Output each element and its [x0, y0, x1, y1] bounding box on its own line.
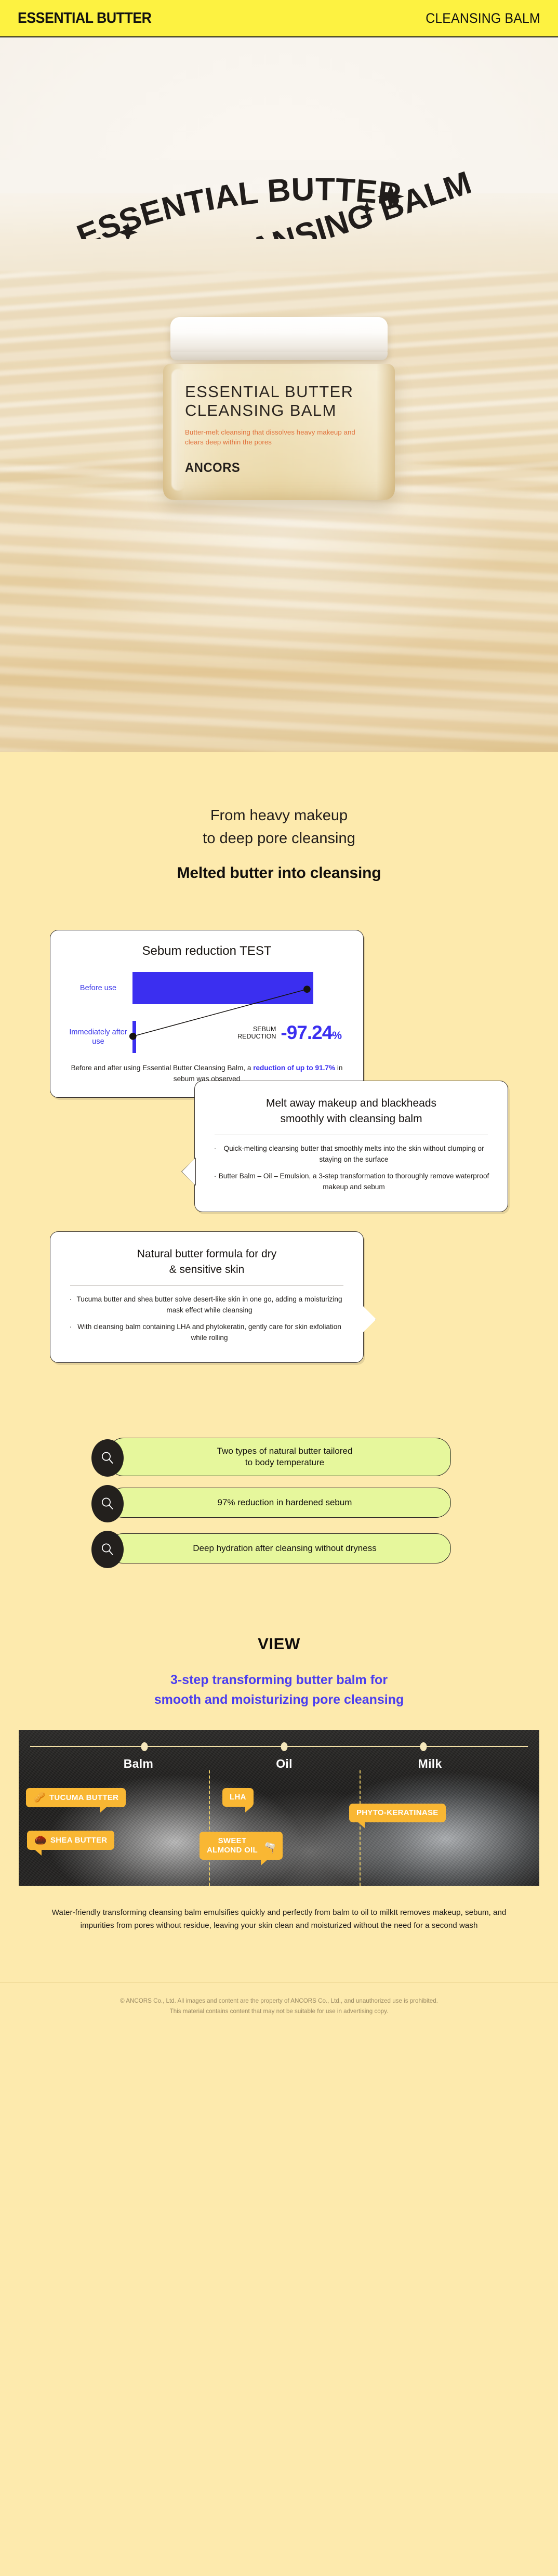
chart-row-before: Before use — [69, 972, 313, 1004]
reduction-percent-sign: % — [332, 1030, 341, 1042]
product-jar: ESSENTIAL BUTTER CLEANSING BALM Butter-m… — [163, 317, 395, 500]
natural-card-title-line1: Natural butter formula for dry — [68, 1246, 346, 1262]
hero-arched-title: ESSENTIAL BUTTER CLEANSING BALM — [0, 99, 558, 239]
bullet-marker: · — [212, 1144, 218, 1165]
melt-card-title-line2: smoothly with cleansing balm — [212, 1111, 490, 1127]
magnifier-icon — [91, 1439, 124, 1477]
melt-bullet: ·Butter Balm – Oil – Emulsion, a 3-step … — [212, 1171, 490, 1193]
summary-pill-list: Two types of natural butter tailored to … — [0, 1439, 558, 1597]
bullet-marker: · — [68, 1322, 73, 1344]
magnifier-glyph — [100, 1496, 115, 1512]
pill-row: Two types of natural butter tailored to … — [0, 1439, 558, 1475]
view-subtitle-line1: 3-step transforming butter balm for — [0, 1671, 558, 1690]
pill-row: 97% reduction in hardened sebum — [0, 1485, 558, 1520]
melt-makeup-card: Melt away makeup and blackheads smoothly… — [194, 1081, 508, 1212]
reduction-annotation: SEBUM REDUCTION -97.24% — [237, 1022, 341, 1044]
bullet-marker: · — [212, 1171, 218, 1193]
pill-item-3: Deep hydration after cleansing without d… — [108, 1533, 451, 1563]
ingredient-tag-sweet-almond-oil: SWEET ALMOND OIL 🫗 — [200, 1832, 283, 1860]
reduction-label-line2: REDUCTION — [237, 1033, 276, 1040]
product-detail-page: ESSENTIAL BUTTER CLEANSING BALM ESSENTIA… — [0, 0, 558, 2042]
jar-body: ESSENTIAL BUTTER CLEANSING BALM Butter-m… — [163, 364, 395, 500]
melt-card-title-line1: Melt away makeup and blackheads — [212, 1096, 490, 1111]
natural-bullet: ·Tucuma butter and shea butter solve des… — [68, 1294, 346, 1316]
three-step-texture-panel: Balm Oil Milk 🥜 TUCUMA BUTTER 🌰 SHEA BUT… — [19, 1730, 539, 1886]
natural-card-title-line2: & sensitive skin — [68, 1262, 346, 1278]
ingredient-tag-label: LHA — [230, 1793, 246, 1802]
chart-title: Sebum reduction TEST — [66, 944, 348, 958]
jar-label-title-line2: CLEANSING BALM — [185, 401, 373, 420]
natural-butter-card: Natural butter formula for dry & sensiti… — [50, 1231, 364, 1363]
magnifier-icon — [91, 1485, 124, 1522]
step-divider — [209, 1770, 210, 1886]
jar-label-title-line1: ESSENTIAL BUTTER — [185, 383, 373, 401]
sebum-chart: Before use Immediately after use — [69, 970, 344, 1053]
card-tail-right — [363, 1306, 376, 1333]
topbar-product-name: ESSENTIAL BUTTER — [18, 10, 151, 27]
reduction-label-line1: SEBUM — [237, 1026, 276, 1033]
page-footer: © ANCORS Co., Ltd. All images and conten… — [0, 1982, 558, 2042]
melt-bullet-text: Butter Balm – Oil – Emulsion, a 3-step t… — [218, 1171, 490, 1193]
timeline-line — [30, 1746, 528, 1747]
card-tail-left — [182, 1158, 195, 1185]
melt-bullet-text: Quick-melting cleansing butter that smoo… — [218, 1144, 490, 1165]
pill-item-1: Two types of natural butter tailored to … — [108, 1438, 451, 1476]
chart-label-after-text: Immediately after use — [69, 1028, 127, 1046]
ingredient-tag-label: SHEA BUTTER — [50, 1836, 107, 1845]
pill-item-2: 97% reduction in hardened sebum — [108, 1488, 451, 1518]
view-section: VIEW 3-step transforming butter balm for… — [0, 1597, 558, 1932]
footer-copyright-line1: © ANCORS Co., Ltd. All images and conten… — [21, 1996, 537, 2006]
magnifier-glyph — [100, 1542, 115, 1557]
shea-nut-icon: 🌰 — [34, 1835, 47, 1845]
caption-strong: reduction of up to 91.7% — [253, 1064, 335, 1072]
chart-row-after: Immediately after use — [69, 1021, 136, 1053]
reduction-number: -97.24 — [281, 1022, 332, 1043]
ingredient-tag-label: SWEET ALMOND OIL — [207, 1836, 258, 1855]
oil-glass-icon: 🫗 — [264, 1843, 276, 1853]
chart-label-after: Immediately after use — [69, 1028, 127, 1046]
hero-section: ESSENTIAL BUTTER CLEANSING BALM ESSENTIA… — [0, 37, 558, 752]
natural-bullet-text: With cleansing balm containing LHA and p… — [73, 1322, 346, 1344]
jar-label-subtitle: Butter-melt cleansing that dissolves hea… — [185, 427, 373, 448]
benefit-section: From heavy makeup to deep pore cleansing… — [0, 752, 558, 1597]
tucuma-fruit-icon: 🥜 — [33, 1793, 46, 1803]
reduction-label: SEBUM REDUCTION — [237, 1026, 276, 1041]
caption-pre: Before and after using Essential Butter … — [71, 1064, 254, 1072]
timeline-dot — [141, 1742, 148, 1751]
step-label-oil: Oil — [276, 1757, 293, 1771]
ingredient-tag-tucuma-butter: 🥜 TUCUMA BUTTER — [26, 1788, 126, 1807]
chart-label-before: Before use — [69, 983, 127, 993]
card-divider — [215, 1135, 488, 1135]
timeline-dot — [420, 1742, 427, 1751]
ingredient-tag-shea-butter: 🌰 SHEA BUTTER — [27, 1831, 114, 1850]
step-label-milk: Milk — [418, 1757, 442, 1771]
bullet-marker: · — [68, 1294, 73, 1316]
step-label-balm: Balm — [124, 1757, 153, 1771]
reduction-value: -97.24% — [281, 1022, 341, 1044]
natural-bullet: ·With cleansing balm containing LHA and … — [68, 1322, 346, 1344]
ingredient-tag-label: TUCUMA BUTTER — [49, 1793, 118, 1803]
headline-light-line2: to deep pore cleansing — [0, 827, 558, 850]
feature-card-stack: Sebum reduction TEST Before use Immediat… — [0, 930, 558, 1408]
jar-lid — [170, 317, 388, 356]
footer-copyright-line2: This material contains content that may … — [21, 2006, 537, 2017]
view-kicker: VIEW — [0, 1635, 558, 1653]
melt-bullet: ·Quick-melting cleansing butter that smo… — [212, 1144, 490, 1165]
pill-row: Deep hydration after cleansing without d… — [0, 1531, 558, 1566]
card-divider — [70, 1285, 343, 1286]
sebum-test-card: Sebum reduction TEST Before use Immediat… — [50, 930, 364, 1097]
jar-label-brand: ANCORS — [185, 461, 364, 476]
ingredient-tag-phyto-keratinase: PHYTO-KERATINASE — [349, 1804, 446, 1822]
closing-paragraph: Water-friendly transforming cleansing ba… — [0, 1886, 558, 1932]
ingredient-tag-label: PHYTO-KERATINASE — [356, 1808, 439, 1818]
step-timeline — [30, 1742, 528, 1751]
view-subtitle-line2: smooth and moisturizing pore cleansing — [0, 1691, 558, 1710]
step-divider — [360, 1770, 361, 1886]
natural-bullet-text: Tucuma butter and shea butter solve dese… — [73, 1294, 346, 1316]
topbar-product-type: CLEANSING BALM — [426, 10, 540, 27]
chart-label-before-text: Before use — [80, 984, 116, 992]
headline-light-line1: From heavy makeup — [0, 804, 558, 827]
headline-bold: Melted butter into cleansing — [0, 864, 558, 882]
magnifier-icon — [91, 1531, 124, 1568]
timeline-dot — [281, 1742, 287, 1751]
chart-bar-before — [132, 972, 313, 1004]
page-topbar: ESSENTIAL BUTTER CLEANSING BALM — [0, 0, 558, 37]
ingredient-tag-lha: LHA — [222, 1788, 254, 1807]
chart-bar-after — [132, 1021, 136, 1053]
magnifier-glyph — [100, 1450, 115, 1466]
